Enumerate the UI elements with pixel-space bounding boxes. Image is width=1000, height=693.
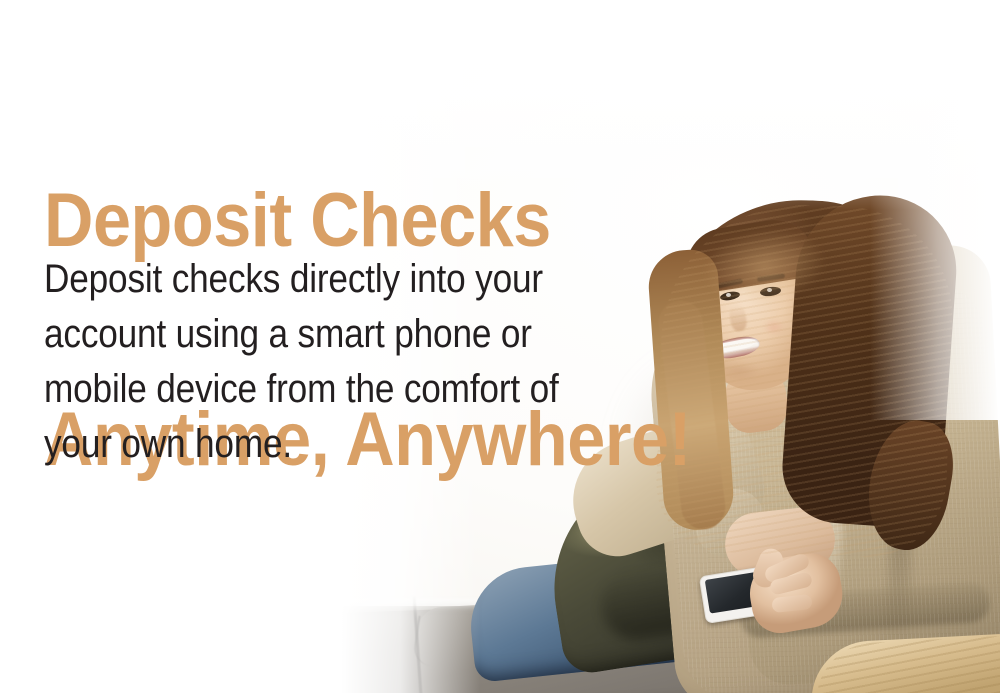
- subcopy: Deposit checks directly into your accoun…: [44, 252, 572, 472]
- subcopy-line-3: mobile device from the comfort of: [44, 362, 572, 417]
- headline-line-1: Deposit Checks: [44, 184, 691, 257]
- photo-fade-right: [870, 0, 1000, 420]
- subcopy-line-4: your own home.: [44, 417, 572, 472]
- subcopy-line-1: Deposit checks directly into your: [44, 252, 572, 307]
- promo-banner: Deposit Checks Anytime, Anywhere! Deposi…: [0, 0, 1000, 693]
- subcopy-line-2: account using a smart phone or: [44, 307, 572, 362]
